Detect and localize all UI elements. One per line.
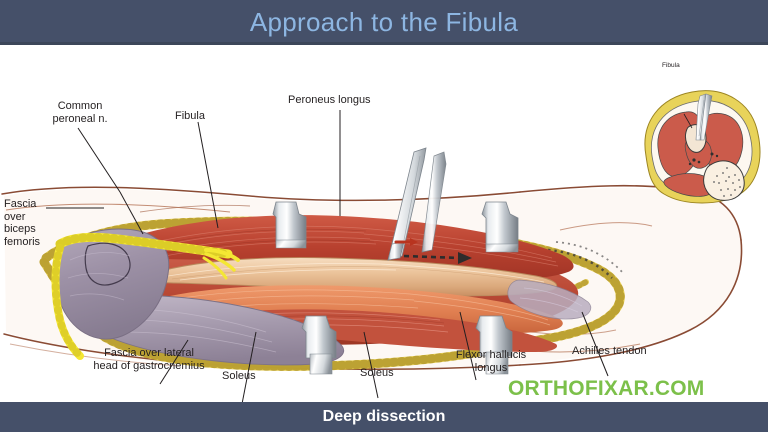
inset-label-fibula: Fibula — [662, 62, 680, 70]
page-footer: Deep dissection — [0, 402, 768, 432]
label-achilles-tendon: Achilles tendon — [572, 345, 682, 358]
label-common-peroneal-n: Common peroneal n. — [36, 100, 124, 125]
screenshot-root: Approach to the Fibula — [0, 0, 768, 432]
footer-caption: Deep dissection — [323, 408, 446, 426]
page-title: Approach to the Fibula — [250, 7, 518, 38]
label-soleus-left: Soleus — [222, 370, 282, 383]
leader-common-peroneal — [78, 128, 120, 192]
site-watermark: ORTHOFIXAR.COM — [508, 377, 704, 401]
label-fibula: Fibula — [175, 110, 235, 123]
label-soleus-right: Soleus — [360, 367, 420, 380]
page-header: Approach to the Fibula — [0, 0, 768, 44]
label-fascia-over-lateral-head-gastrocnemius: Fascia over lateral head of gastrocnemiu… — [84, 347, 214, 372]
cross-section-inset — [645, 91, 760, 203]
label-fascia-over-biceps-femoris: Fascia over biceps femoris — [4, 198, 66, 248]
label-peroneus-longus: Peroneus longus — [288, 94, 398, 107]
label-flexor-hallucis-longus: Flexor hallucis longus — [444, 349, 538, 374]
